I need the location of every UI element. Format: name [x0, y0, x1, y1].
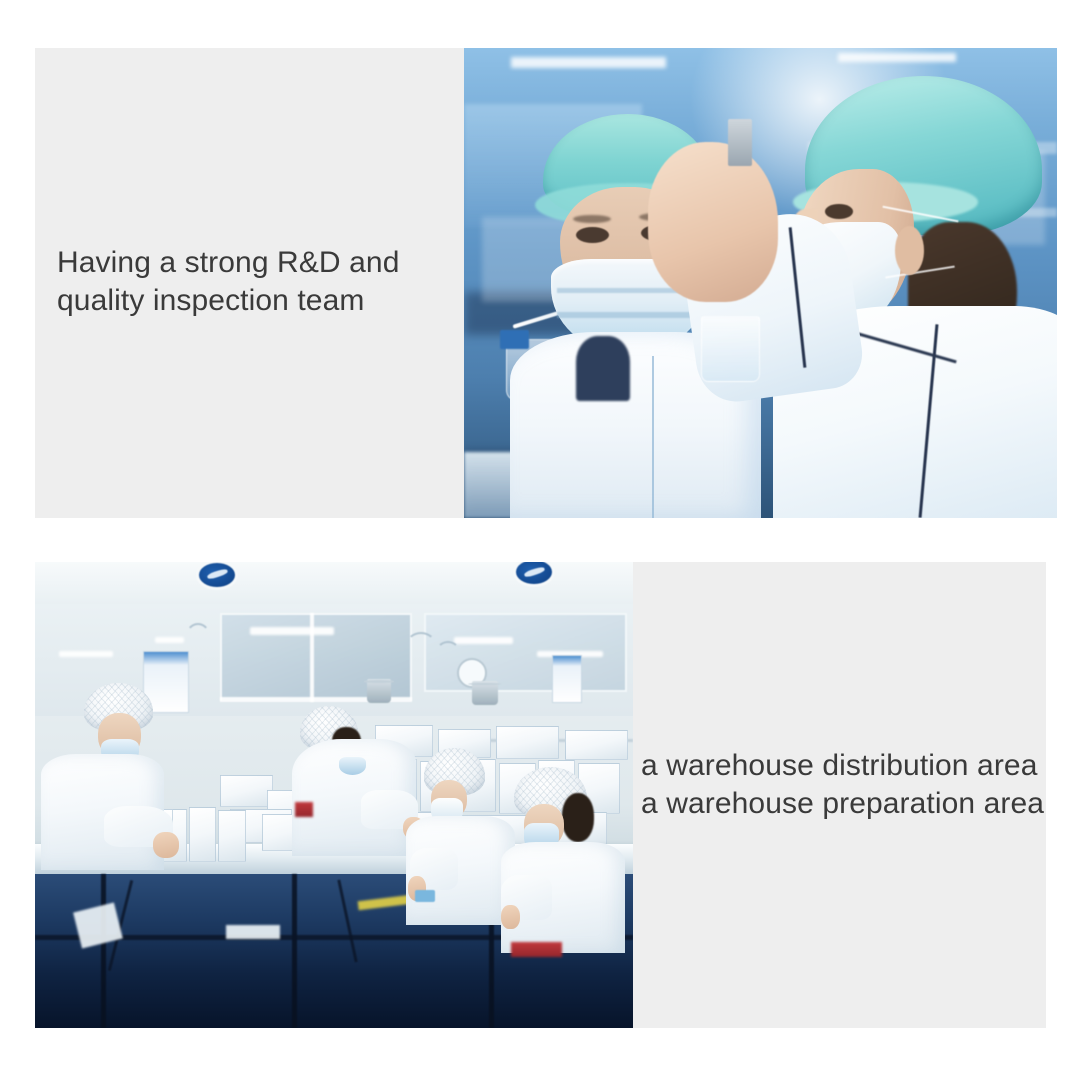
worker-hand — [153, 832, 179, 858]
beaker-icon — [701, 316, 760, 382]
hanging-hose — [185, 623, 211, 653]
stainless-pot — [367, 679, 391, 703]
eye — [576, 227, 609, 243]
carton — [565, 730, 628, 760]
warehouse-packing-photo — [35, 562, 633, 1028]
eyebrow — [573, 215, 611, 223]
face-mask — [339, 757, 365, 775]
carton — [189, 807, 215, 862]
hanging-hose — [406, 632, 436, 658]
rd-caption-panel: Having a strong R&D and quality inspecti… — [35, 48, 464, 518]
ceiling-light-icon — [838, 53, 957, 62]
gloved-hand — [648, 142, 778, 302]
warehouse-worker-bent — [292, 706, 424, 855]
ceiling-light-icon — [59, 651, 113, 658]
stainless-pot — [472, 681, 498, 705]
loose-paper — [226, 925, 280, 939]
ceiling-light-icon — [511, 57, 665, 67]
carton — [218, 810, 246, 862]
worker-hand — [501, 905, 520, 929]
table-leg — [101, 874, 106, 1028]
ceiling-light-icon — [155, 637, 185, 643]
sample-vial — [728, 119, 752, 166]
table-leg — [292, 874, 297, 1028]
rd-section: Having a strong R&D and quality inspecti… — [35, 48, 1057, 518]
warehouse-worker-right — [501, 767, 627, 953]
coat-collar — [576, 336, 631, 401]
warehouse-caption-panel: a warehouse distribution area a warehous… — [633, 562, 1046, 1028]
warehouse-section: a warehouse distribution area a warehous… — [35, 562, 1046, 1028]
lab-quality-inspection-photo — [464, 48, 1057, 518]
blue-tool — [415, 890, 435, 902]
warehouse-worker-left — [41, 683, 185, 869]
ceiling-light-icon — [454, 637, 514, 644]
red-garment — [295, 802, 313, 817]
warehouse-caption-text: a warehouse distribution area a warehous… — [641, 747, 1046, 823]
face-mask-fold — [557, 312, 702, 318]
coat-placket — [652, 356, 654, 518]
worker-hair — [562, 793, 595, 841]
rd-caption-text: Having a strong R&D and quality inspecti… — [57, 244, 457, 320]
ear — [895, 226, 924, 275]
ceiling-light-icon — [250, 627, 334, 634]
red-garment — [511, 942, 561, 957]
hanging-hose — [436, 641, 460, 663]
notice-board — [552, 655, 582, 703]
